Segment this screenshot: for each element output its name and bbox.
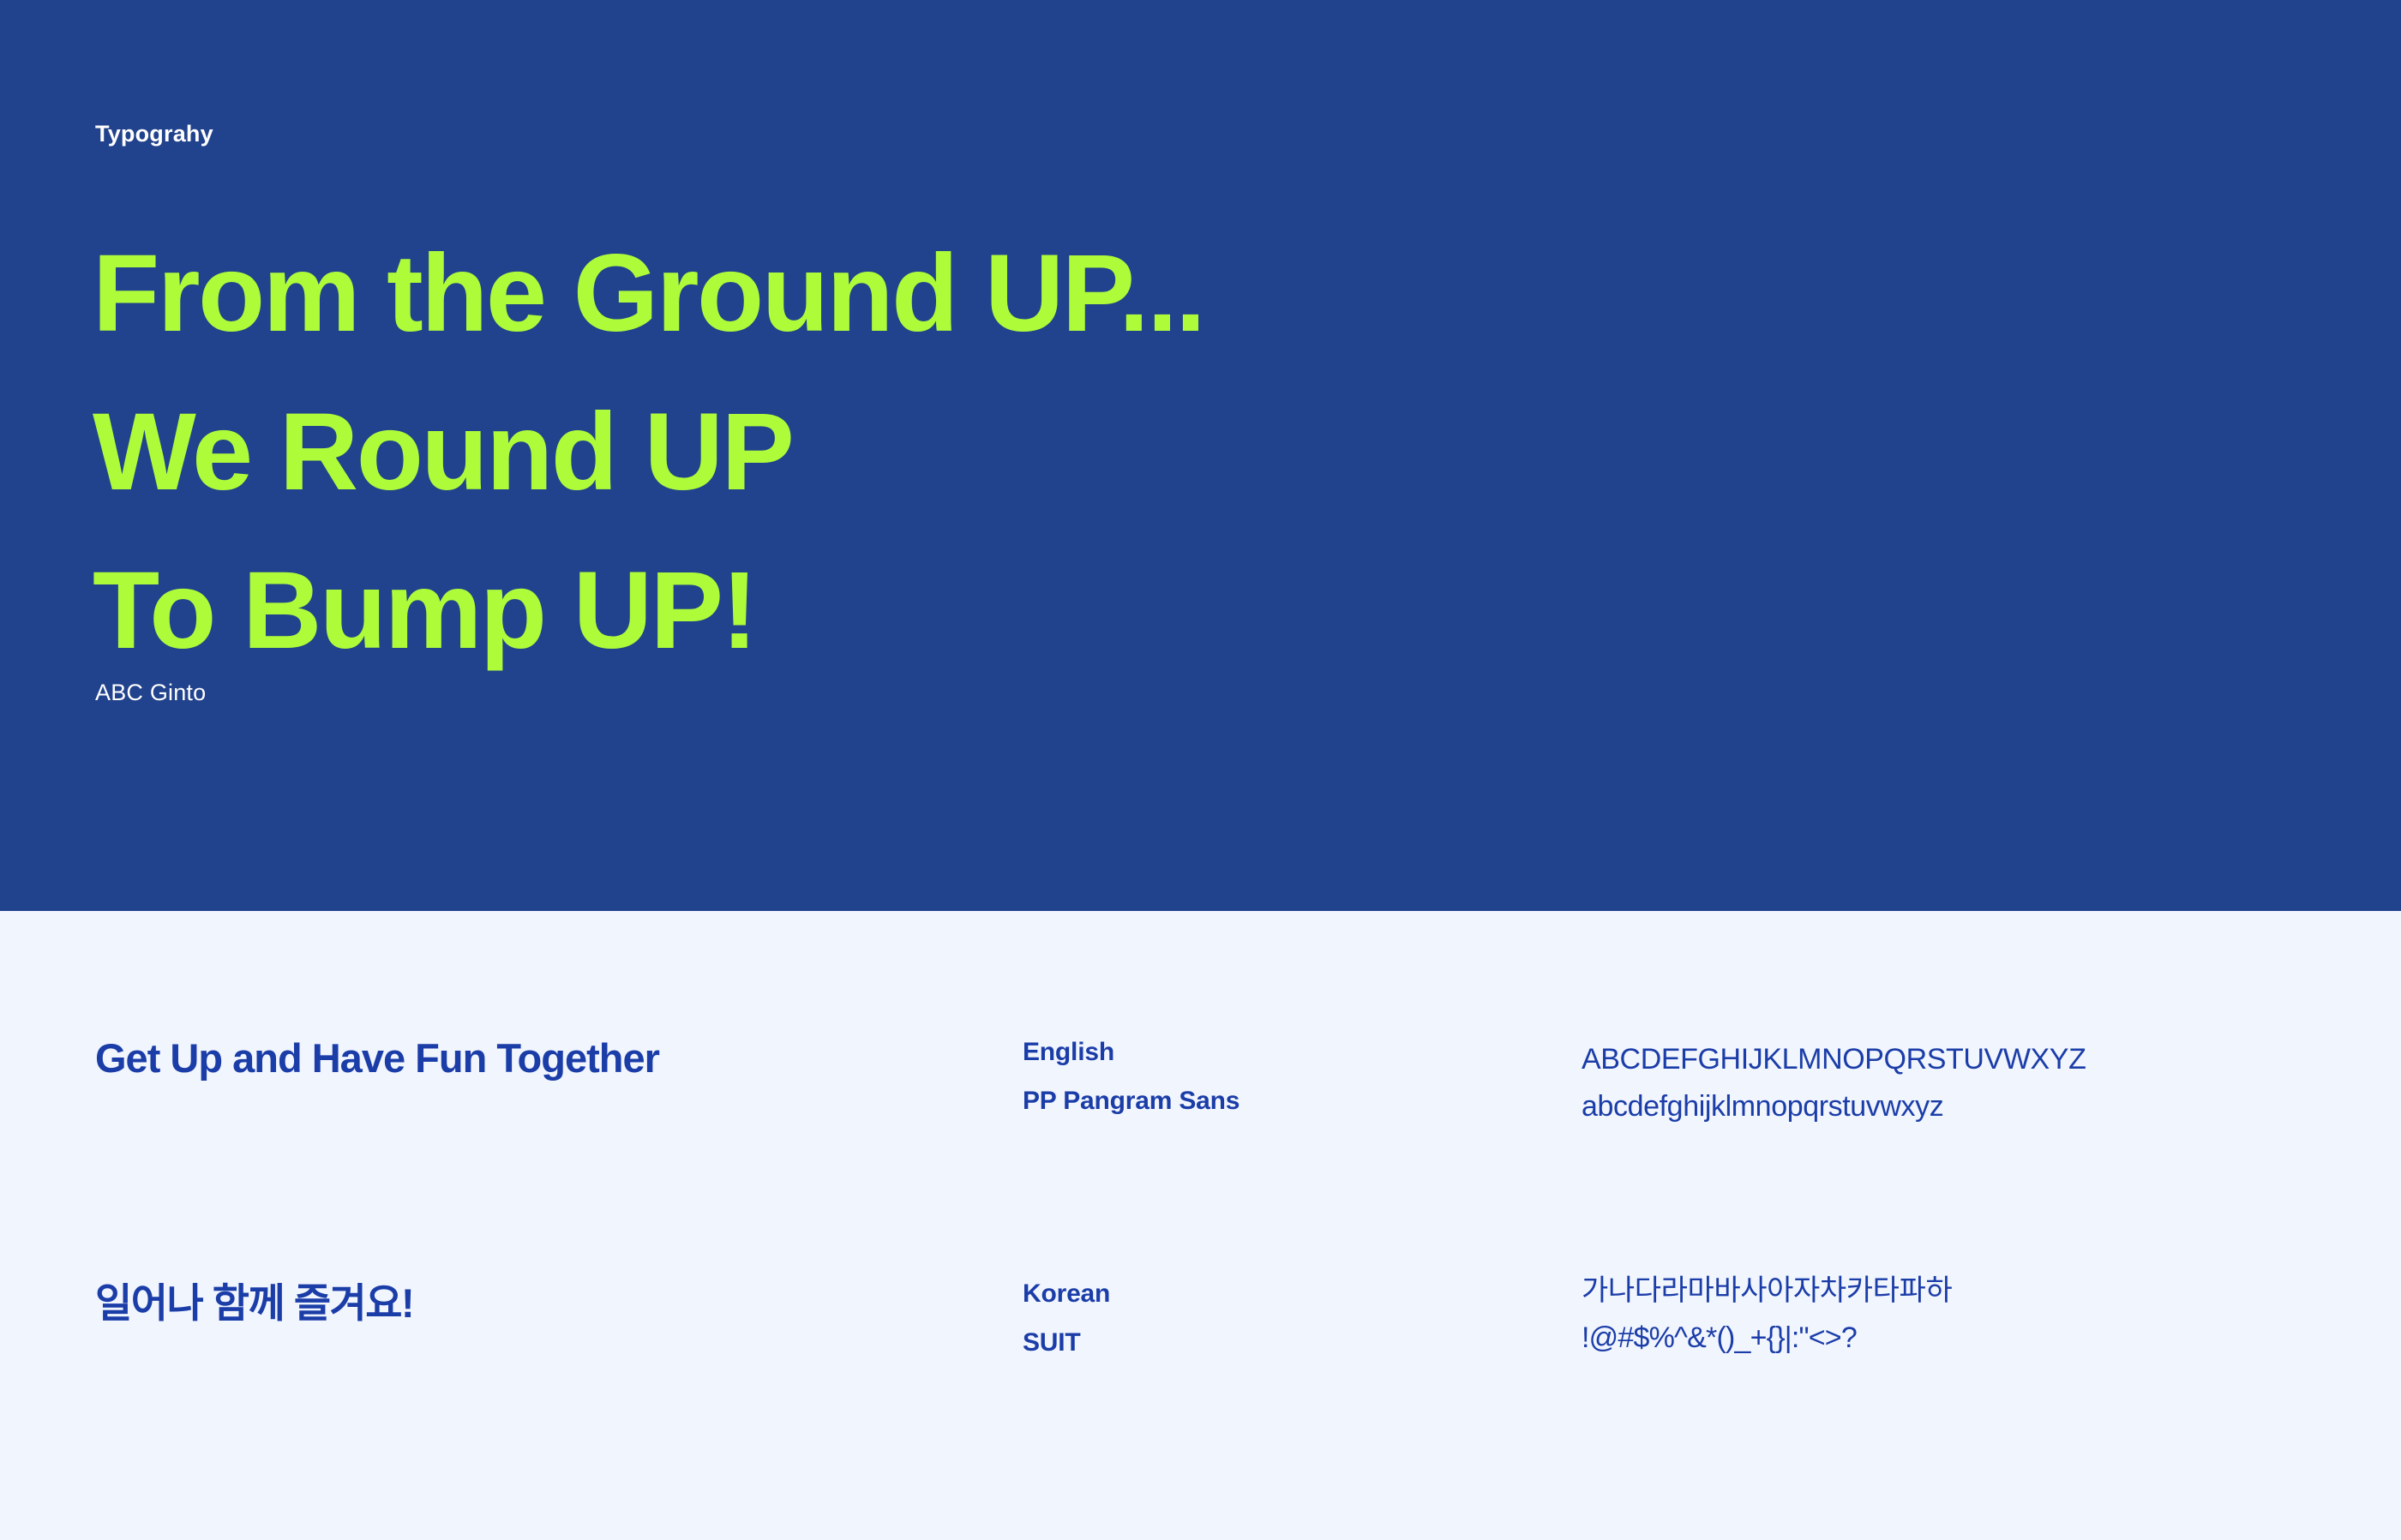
typography-specimen-page: Typograhy From the Ground UP... We Round… [0, 0, 2401, 1540]
section-eyebrow-label: Typograhy [95, 123, 213, 146]
headline-line-1: From the Ground UP... [93, 214, 1204, 373]
glyph-line-lowercase: abcdefghijklmnopqrstuvwxyz [1582, 1092, 2353, 1121]
specimen-sample-column: 일어나 함께 즐겨요! [95, 1283, 987, 1323]
language-label: Korean [1023, 1281, 1554, 1307]
hero-section: Typograhy From the Ground UP... We Round… [0, 0, 2401, 911]
specimen-meta-column: Korean SUIT [1023, 1281, 1554, 1356]
specimen-section: Get Up and Have Fun Together English PP … [0, 911, 2401, 1540]
glyph-line-hangul: 가나다라마바사아자차카타파하 [1582, 1276, 2353, 1305]
sample-sentence: 일어나 함께 즐겨요! [95, 1283, 987, 1323]
specimen-sample-column: Get Up and Have Fun Together [95, 1038, 987, 1078]
specimen-glyphs-column: ABCDEFGHIJKLMNOPQRSTUVWXYZ abcdefghijklm… [1582, 1045, 2353, 1121]
language-label: English [1023, 1040, 1554, 1065]
typeface-label: PP Pangram Sans [1023, 1088, 1554, 1114]
headline-line-3: To Bump UP! [93, 531, 1204, 690]
headline-line-2: We Round UP [93, 373, 1204, 531]
specimen-glyphs-column: 가나다라마바사아자차카타파하 !@#$%^&*()_+{}|:"<>? [1582, 1276, 2353, 1352]
typeface-label: SUIT [1023, 1330, 1554, 1356]
glyph-line-symbols: !@#$%^&*()_+{}|:"<>? [1582, 1323, 2353, 1352]
sample-sentence: Get Up and Have Fun Together [95, 1038, 987, 1078]
hero-headline: From the Ground UP... We Round UP To Bum… [93, 214, 1204, 690]
glyph-line-uppercase: ABCDEFGHIJKLMNOPQRSTUVWXYZ [1582, 1045, 2353, 1074]
specimen-meta-column: English PP Pangram Sans [1023, 1040, 1554, 1114]
hero-font-credit: ABC Ginto [95, 681, 206, 704]
